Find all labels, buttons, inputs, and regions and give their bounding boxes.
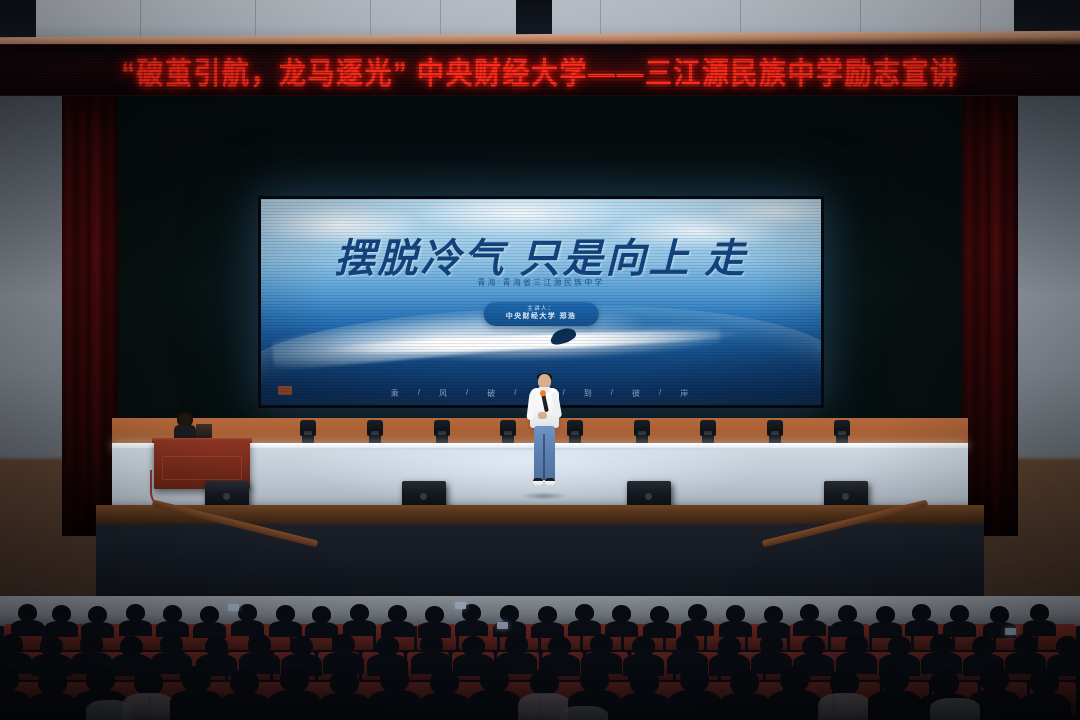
audience-shoulders — [468, 690, 521, 720]
audience-head — [880, 666, 909, 692]
audience-head — [802, 636, 825, 656]
led-banner-text: “破茧引航，龙马逐光” 中央财经大学——三江源民族中学励志宣讲 — [121, 48, 958, 92]
audience-head — [632, 636, 655, 656]
audience-shoulders — [381, 621, 414, 637]
audience-head — [230, 669, 259, 695]
audience-head — [126, 604, 145, 621]
slide-subtitle: 青海·青海省三江源民族中学 — [261, 277, 821, 288]
curtain-left — [62, 96, 118, 536]
audience-head — [930, 634, 953, 654]
slide-footer-char: / — [514, 388, 519, 399]
audience-head — [500, 605, 519, 622]
slide-footer-char: 破 — [487, 388, 498, 399]
audience-shoulders — [643, 622, 676, 638]
audience-head — [630, 669, 659, 695]
audience-head — [780, 666, 809, 692]
audience-shoulders-light — [818, 693, 871, 720]
audience-head — [312, 606, 331, 623]
slide-footer-char: 彼 — [632, 388, 643, 399]
audience-head — [380, 666, 409, 692]
audience-shoulders — [719, 621, 752, 637]
audience-shoulders — [119, 620, 152, 636]
moving-head-light — [434, 420, 450, 444]
audience-head — [888, 636, 911, 656]
audience-head — [505, 634, 528, 654]
audience-phone-screen — [1005, 628, 1016, 635]
audience-shoulders — [268, 690, 321, 720]
audience-head — [134, 669, 163, 695]
slide-footer-char: / — [659, 388, 664, 399]
audience-head — [160, 634, 183, 654]
audience-shoulders — [269, 621, 302, 637]
audience-head — [18, 604, 37, 621]
audience-shoulders-light — [86, 700, 132, 720]
audience-shoulders — [318, 693, 371, 720]
audience-head — [376, 636, 399, 656]
moving-head-light — [634, 420, 650, 444]
audience-head — [238, 604, 257, 621]
audience-head — [480, 666, 509, 692]
audience-shoulders — [905, 620, 938, 636]
audience-head — [290, 636, 313, 656]
audience-head — [680, 666, 709, 692]
audience-head — [548, 636, 571, 656]
audience-head — [1030, 604, 1049, 621]
audience-head — [80, 634, 103, 654]
audience-head — [0, 634, 23, 654]
audience-head — [688, 604, 707, 621]
audience-head — [430, 669, 459, 695]
auditorium-photo: “破茧引航，龙马逐光” 中央财经大学——三江源民族中学励志宣讲 摆脱冷气 只是向… — [0, 0, 1080, 720]
audience-shoulders — [943, 621, 976, 637]
audience-shoulders — [368, 690, 421, 720]
audience-shoulders — [868, 690, 921, 720]
audience-shoulders — [618, 693, 671, 720]
audience-head — [650, 606, 669, 623]
audience-head — [163, 605, 182, 622]
audience-head — [718, 636, 741, 656]
audience-head — [38, 669, 67, 695]
slide-footer-char: 岸 — [680, 388, 691, 399]
moving-head-light — [834, 420, 850, 444]
audience-head — [676, 634, 699, 654]
audience-head — [912, 604, 931, 621]
stage-front-face — [96, 524, 984, 602]
audience-head — [530, 669, 559, 695]
audience-head — [800, 604, 819, 621]
audience-shoulders — [218, 693, 271, 720]
speaker-shoe-left — [533, 478, 543, 485]
audience-head — [760, 634, 783, 654]
audience-shoulders — [768, 690, 821, 720]
audience-head — [575, 604, 594, 621]
audience-head — [350, 604, 369, 621]
led-banner: “破茧引航，龙马逐光” 中央财经大学——三江源民族中学励志宣讲 — [0, 44, 1080, 96]
audience-shoulders — [568, 620, 601, 636]
slide-footer-char: / — [611, 388, 616, 399]
audience-head — [182, 666, 211, 692]
audience-head — [332, 634, 355, 654]
audience-shoulders — [418, 693, 471, 720]
audience-head — [1056, 636, 1079, 656]
audience-shoulders — [305, 622, 338, 638]
speaker-shoe-right — [545, 478, 555, 485]
audience-head — [1030, 669, 1059, 695]
slide-footer-char: / — [418, 388, 423, 399]
moving-head-light — [367, 420, 383, 444]
operator-laptop — [196, 424, 212, 438]
moving-head-light — [300, 420, 316, 444]
audience-head — [538, 606, 557, 623]
speaker-shadow — [521, 492, 567, 500]
audience-head — [580, 666, 609, 692]
audience-head — [40, 636, 63, 656]
audience-shoulders-light — [930, 698, 980, 720]
audience-head — [330, 669, 359, 695]
audience-shoulders — [718, 693, 771, 720]
audience-head — [52, 605, 71, 622]
audience-head — [730, 669, 759, 695]
audience-head — [425, 606, 444, 623]
slide-footer-char: 乘 — [391, 388, 402, 399]
curtain-right — [962, 96, 1018, 536]
audience-head — [980, 666, 1009, 692]
audience-shoulders — [1018, 693, 1071, 720]
audience-phone-screen — [228, 604, 239, 611]
audience-shoulders — [343, 620, 376, 636]
slide-title: 摆脱冷气 只是向上 走 — [261, 226, 821, 284]
speaker-hand — [538, 412, 547, 419]
audience-head — [876, 606, 895, 623]
audience-shoulders — [605, 621, 638, 637]
audience-shoulders — [45, 621, 78, 637]
slide-speaker-badge: 主讲人： 中央财经大学 郑浩 — [484, 302, 599, 326]
slide-footer-char: / — [563, 388, 568, 399]
moving-head-light — [767, 420, 783, 444]
slide-corner-badge — [278, 386, 292, 395]
slide-footer-char: 到 — [584, 388, 595, 399]
speaker-jeans — [534, 426, 555, 480]
audience-head — [205, 636, 228, 656]
audience-head — [990, 606, 1009, 623]
audience-head — [612, 605, 631, 622]
audience-shoulders — [668, 690, 721, 720]
audience-shoulders — [26, 693, 79, 720]
audience-phone-screen — [497, 622, 508, 629]
audience-head — [1014, 634, 1037, 654]
audience-head — [276, 605, 295, 622]
student-speaker — [527, 374, 561, 498]
audience-head — [838, 605, 857, 622]
audience-head — [950, 605, 969, 622]
audience-head — [845, 634, 868, 654]
audience-shoulders-light — [560, 706, 608, 720]
audience-head — [462, 636, 485, 656]
audience-head — [86, 666, 115, 692]
moving-head-light — [567, 420, 583, 444]
moving-head-light — [700, 420, 716, 444]
audience-head — [388, 605, 407, 622]
audience-head — [248, 634, 271, 654]
audience-head — [830, 669, 859, 695]
audience-head — [200, 606, 219, 623]
slide-speaker-label: 主讲人： — [506, 306, 577, 313]
slide-speaker-name: 中央财经大学 郑浩 — [506, 313, 577, 322]
audience-phone-screen — [455, 602, 466, 609]
moving-head-light — [500, 420, 516, 444]
audience-shoulders — [193, 622, 226, 638]
audience-head — [420, 634, 443, 654]
audience-shoulders — [170, 690, 223, 720]
audience-head — [930, 669, 959, 695]
audience-shoulders — [793, 620, 826, 636]
audience-head — [120, 636, 143, 656]
audience-head — [764, 606, 783, 623]
audience-head — [590, 634, 613, 654]
slide-footer-char: 风 — [439, 388, 450, 399]
audience-head — [88, 606, 107, 623]
audience-head — [726, 605, 745, 622]
audience-shoulders — [455, 620, 488, 636]
audience-head — [280, 666, 309, 692]
audience-head — [972, 636, 995, 656]
audience-shoulders — [11, 620, 44, 636]
slide-footer-char: / — [466, 388, 471, 399]
